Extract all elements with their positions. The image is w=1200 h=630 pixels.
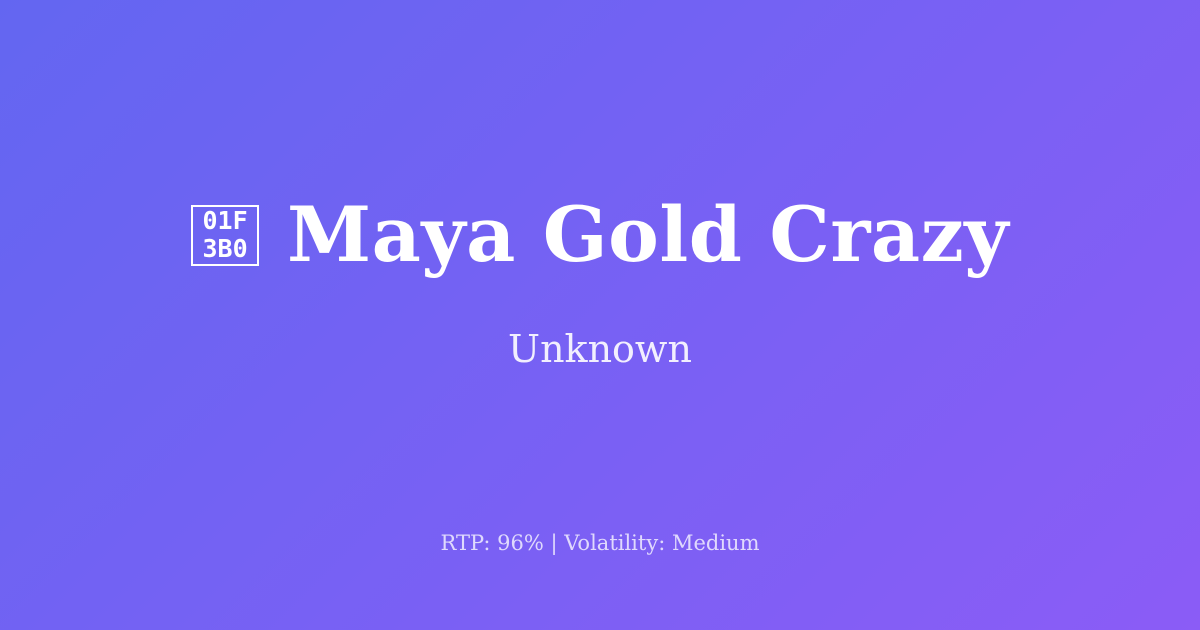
game-preview-card: 01F 3B0 Maya Gold Crazy Unknown RTP: 96%… [0, 0, 1200, 630]
game-stats-line: RTP: 96% | Volatility: Medium [0, 530, 1200, 557]
game-provider-subtitle: Unknown [508, 327, 692, 373]
slot-machine-emoji-tofu-icon: 01F 3B0 [191, 205, 259, 266]
codepoint-line-top: 01F [202, 207, 247, 235]
codepoint-line-bottom: 3B0 [202, 235, 247, 263]
game-title: Maya Gold Crazy [287, 195, 1009, 275]
title-row: 01F 3B0 Maya Gold Crazy [0, 195, 1200, 275]
